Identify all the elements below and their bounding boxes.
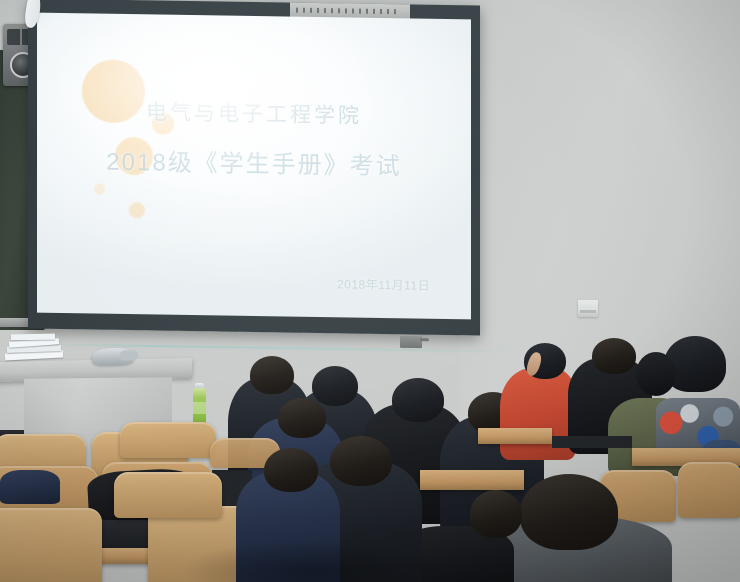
projection-screen-surface: 电气与电子工程学院 2018级《学生手册》考试 2018年11月11日: [37, 13, 471, 320]
slide-subtitle: 2018级《学生手册》考试: [37, 141, 471, 183]
student-head: [264, 448, 318, 492]
classroom-photo: 电气与电子工程学院 2018级《学生手册》考试 2018年11月11日: [0, 0, 740, 582]
slide-date: 2018年11月11日: [337, 275, 457, 294]
desk-row-front-right: [420, 470, 524, 490]
seat-back: [114, 472, 222, 518]
podium-object: [92, 347, 134, 365]
seat-back: [0, 508, 102, 582]
presentation-slide: 电气与电子工程学院 2018级《学生手册》考试 2018年11月11日: [37, 13, 471, 320]
seat-back: [678, 462, 740, 518]
student-head: [470, 490, 522, 538]
projection-screen-frame: 电气与电子工程学院 2018级《学生手册》考试 2018年11月11日: [28, 0, 480, 336]
student-head: [392, 378, 444, 422]
paper-sheet: [11, 334, 55, 341]
screen-plate-vents: [296, 8, 401, 15]
slide-decor-circle-tiny-lower: [129, 202, 145, 218]
student-head: [278, 398, 326, 438]
student-head: [312, 366, 358, 406]
seat-back: [120, 422, 216, 458]
desk-gap: [552, 436, 632, 448]
screen-mount-bracket: [400, 336, 422, 348]
slide-decor-circle-tiny-left: [94, 183, 105, 194]
student-head: [520, 474, 618, 550]
student-head: [330, 436, 392, 486]
bottle-label: [193, 402, 206, 414]
student-torso-partial: [0, 470, 60, 504]
paper-stack: [5, 322, 65, 366]
slide-title: 电气与电子工程学院: [37, 95, 471, 132]
light-switch[interactable]: [578, 300, 598, 317]
desk-row-right: [478, 428, 552, 444]
student-head: [250, 356, 294, 394]
student-hood: [636, 352, 676, 396]
student-head: [592, 338, 636, 374]
